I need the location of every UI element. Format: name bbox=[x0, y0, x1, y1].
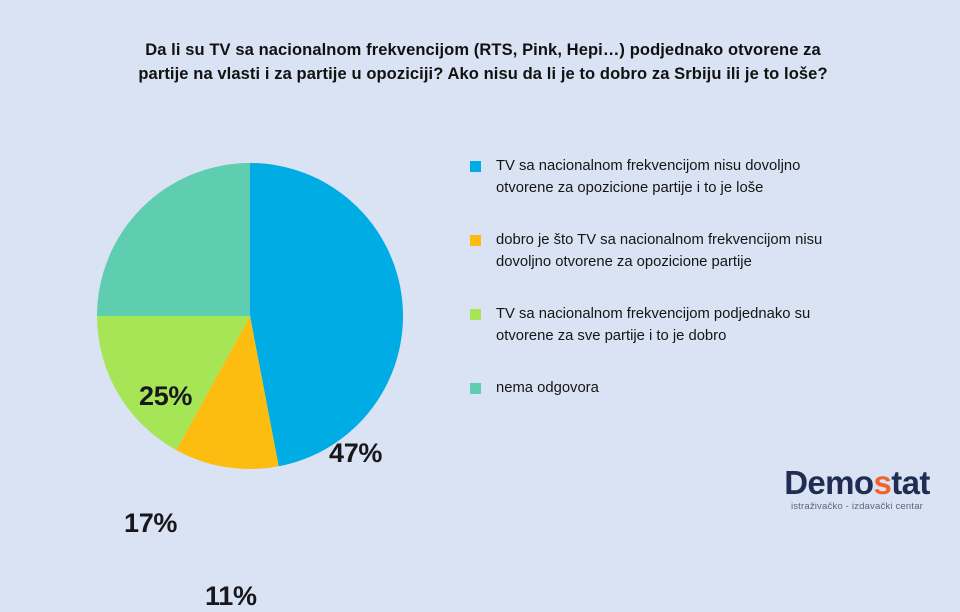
pie-chart-svg bbox=[97, 163, 403, 469]
legend-swatch-icon bbox=[470, 235, 481, 246]
pie-slice-label-blue: 47% bbox=[329, 438, 382, 469]
logo-tagline: istraživačko - izdavački centar bbox=[766, 501, 948, 512]
legend-item: nema odgovora bbox=[470, 377, 940, 399]
logo-word-part1: Demo bbox=[784, 464, 873, 501]
pie-slice bbox=[250, 163, 403, 466]
pie-chart: 47% 11% 17% 25% bbox=[97, 163, 403, 469]
page-title-line-2: partije na vlasti i za partije u opozici… bbox=[88, 62, 878, 86]
logo-wordmark: Demostat bbox=[766, 466, 948, 499]
chart-legend: TV sa nacionalnom frekvencijom nisu dovo… bbox=[470, 155, 940, 399]
pie-slice-label-teal: 25% bbox=[139, 381, 192, 412]
logo-word-part2: tat bbox=[891, 464, 930, 501]
page-title-line-1: Da li su TV sa nacionalnom frekvencijom … bbox=[88, 38, 878, 62]
page-title: Da li su TV sa nacionalnom frekvencijom … bbox=[88, 38, 878, 87]
pie-slice-label-amber: 11% bbox=[205, 581, 257, 612]
legend-swatch-icon bbox=[470, 161, 481, 172]
pie-slice bbox=[97, 163, 250, 316]
legend-item-label: TV sa nacionalnom frekvencijom nisu dovo… bbox=[496, 155, 940, 200]
legend-item-label: nema odgovora bbox=[496, 377, 940, 399]
legend-item-label: TV sa nacionalnom frekvencijom podjednak… bbox=[496, 303, 940, 348]
legend-item: dobro je što TV sa nacionalnom frekvenci… bbox=[470, 229, 940, 274]
legend-item: TV sa nacionalnom frekvencijom podjednak… bbox=[470, 303, 940, 348]
legend-item: TV sa nacionalnom frekvencijom nisu dovo… bbox=[470, 155, 940, 200]
slide-canvas: Da li su TV sa nacionalnom frekvencijom … bbox=[0, 0, 960, 540]
logo-word-accent: s bbox=[873, 464, 891, 501]
legend-item-label: dobro je što TV sa nacionalnom frekvenci… bbox=[496, 229, 940, 274]
demostat-logo: Demostat istraživačko - izdavački centar bbox=[766, 466, 948, 512]
legend-swatch-icon bbox=[470, 383, 481, 394]
legend-swatch-icon bbox=[470, 309, 481, 320]
pie-slice-label-green: 17% bbox=[124, 508, 177, 539]
